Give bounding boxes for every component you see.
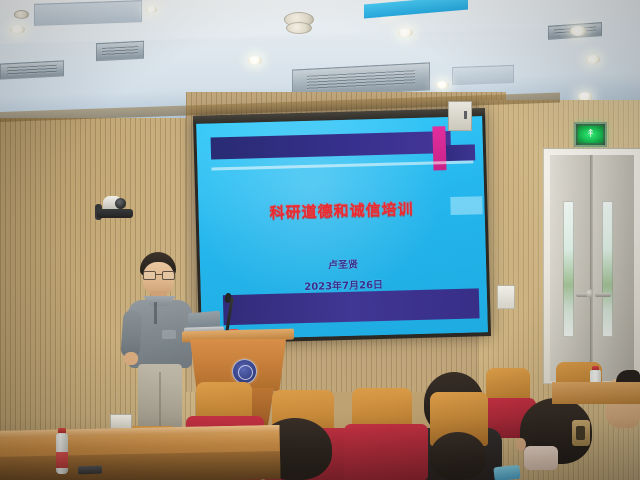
ac-vent-louvers: [7, 65, 57, 75]
audience-head: [430, 432, 486, 480]
glasses-icon: [143, 271, 174, 278]
audience-ear: [516, 438, 526, 451]
door-glass-left: [563, 201, 574, 337]
seal-inner-ring: [238, 365, 253, 380]
shirt-placket: [154, 302, 157, 324]
door-knob[interactable]: [586, 289, 593, 298]
ceiling-downlight: [10, 25, 25, 34]
presenter-hand-left: [124, 352, 138, 365]
slide-top-band-secondary: [443, 144, 475, 161]
audience-phone-screen[interactable]: [493, 465, 520, 480]
running-man-icon: ↟: [586, 128, 594, 141]
ac-vent: [0, 60, 64, 79]
exit-door[interactable]: [543, 148, 640, 384]
face-mask-icon: [524, 446, 558, 470]
water-bottle[interactable]: [55, 428, 69, 474]
ac-vent: [96, 41, 144, 62]
institutional-seal-icon: [232, 359, 257, 384]
ceiling-downlight: [570, 26, 586, 36]
glasses-lens-right: [162, 271, 175, 280]
wall-power-outlet[interactable]: [110, 414, 132, 429]
ceiling-access-panel: [452, 65, 514, 85]
ac-vent-louvers: [102, 46, 139, 57]
hair-clip-slot: [576, 426, 585, 440]
seat-cushion[interactable]: [344, 424, 428, 480]
smartphone-on-desk[interactable]: [78, 466, 102, 475]
slide-surface: 科研道德和诚信培训 卢圣贤 2023年7月26日: [196, 116, 488, 340]
door-handle-right[interactable]: [595, 293, 611, 297]
wall-speaker-box: [448, 101, 472, 131]
glasses-lens-left: [143, 271, 156, 280]
desk-underside-shadow: [0, 451, 281, 480]
ceiling-downlight: [248, 56, 262, 65]
shirt-pocket: [162, 330, 176, 339]
wall-control-panel[interactable]: [497, 285, 515, 309]
exit-sign: ↟: [574, 122, 607, 147]
ceiling-downlight: [586, 55, 600, 64]
door-center-gap: [590, 155, 593, 381]
ceiling-downlight: [436, 81, 449, 89]
photo-scene: 科研道德和诚信培训 卢圣贤 2023年7月26日 ↟: [0, 0, 640, 480]
speaker-led-icon: [464, 111, 467, 119]
front-desk: [0, 425, 281, 480]
door-leaves: [550, 155, 634, 381]
camera-lens: [115, 198, 126, 209]
camera-body: [97, 209, 133, 218]
glasses-bridge: [155, 274, 162, 275]
door-glass-right: [602, 201, 613, 337]
smoke-detector: [286, 22, 312, 34]
ceiling-downlight: [146, 6, 157, 13]
side-desk: [552, 382, 640, 404]
smoke-detector: [14, 10, 29, 19]
ptz-camera-icon: [95, 196, 135, 224]
projection-screen[interactable]: 科研道德和诚信培训 卢圣贤 2023年7月26日: [193, 108, 491, 344]
ceiling-access-panel: [34, 0, 142, 26]
ceiling-downlight: [398, 28, 413, 37]
door-leaf-right[interactable]: [593, 155, 634, 381]
bottle-label: [56, 452, 68, 468]
ac-vent-louvers: [307, 70, 416, 90]
